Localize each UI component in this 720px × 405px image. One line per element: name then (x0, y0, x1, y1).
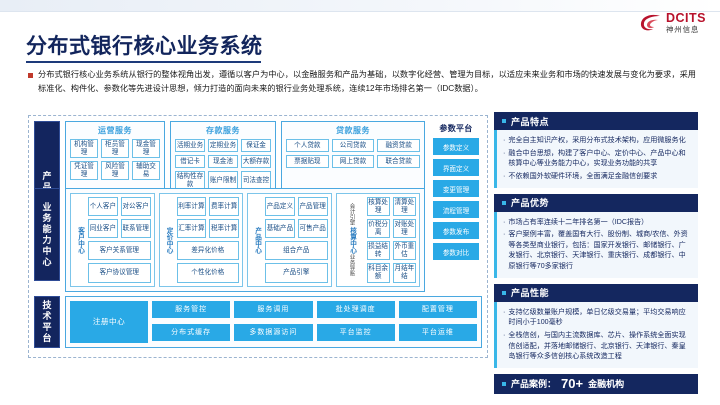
capability-cell[interactable]: 客户协议管理 (88, 263, 151, 282)
capability-cell[interactable]: 核算处理 (367, 197, 390, 216)
service-cell[interactable]: 公司贷款 (332, 139, 375, 152)
center-cells-pricing: 利率计算 费率计算 汇率计算 税率计算 差异化价格 个性化价格 (177, 197, 240, 283)
center-name-product: 产品中心 (251, 197, 262, 283)
center-accounting: 会计引擎 核算中心 业务导账 核算处理 清算处理 价税分离 对账处理 损益结转 … (336, 193, 421, 287)
capability-cell[interactable]: 税率计算 (209, 219, 239, 238)
list-dot-icon: · (503, 148, 505, 169)
panel-item-text: 融合中台思想，构建了客户中心、定价中心、产品中心和核算中心等业务能力中心，实现业… (508, 148, 691, 169)
service-cell[interactable]: 辅助交易 (132, 161, 160, 180)
case-suffix: 金融机构 (588, 377, 624, 390)
group-title-loan: 贷款服务 (286, 125, 420, 136)
capability-cell[interactable]: 产品定义 (265, 197, 295, 216)
panel-body-product-advantages: · 市场占有率连续十二年排名第一（IDC报告） · 客户案例丰富，覆盖国有大行、… (494, 212, 698, 278)
param-button[interactable]: 参数发布 (433, 222, 479, 239)
business-posting-label: 业务导账 (348, 254, 356, 276)
intro-bullet-icon (28, 73, 33, 78)
cell-grid-operation: 机构管理 柜员管理 现金管理 凭证管理 风险管理 辅助交易 (70, 139, 160, 180)
panel-title: 产品优势 (511, 196, 549, 209)
capability-cell[interactable]: 清算处理 (393, 197, 416, 216)
panel-product-advantages: 产品优势 · 市场占有率连续十二年排名第一（IDC报告） · 客户案例丰富，覆盖… (494, 194, 698, 278)
capability-cell[interactable]: 费率计算 (209, 197, 239, 216)
param-button[interactable]: 参数定义 (433, 138, 479, 155)
cell-grid-loan: 个人贷款 公司贷款 融资贷款 票据贴现 网上贷款 联合贷款 (286, 139, 420, 168)
param-button[interactable]: 流程管理 (433, 201, 479, 218)
param-button[interactable]: 变更管理 (433, 180, 479, 197)
service-cell[interactable]: 票据贴现 (286, 155, 329, 168)
panel-item-text: 完全自主知识产权，采用分布式技术架构，应用微服务化 (508, 135, 685, 146)
intro-text: 分布式银行核心业务系统从银行的整体视角出发，遵循以客户为中心，以金融服务和产品为… (38, 68, 696, 97)
service-cell[interactable]: 借记卡 (175, 155, 205, 168)
capability-cell[interactable]: 月结年结 (393, 263, 416, 282)
parameter-platform-column: 参数平台 参数定义 界面定义 变更管理 流程管理 参数发布 参数对比 (430, 121, 482, 264)
service-cell[interactable]: 柜员管理 (101, 139, 129, 158)
brand-logo: DCITS 神州信息 (640, 12, 706, 33)
center-name-pricing: 定价中心 (163, 197, 174, 283)
panel-bullet-icon (502, 119, 506, 123)
tech-cell[interactable]: 多数据源访问 (234, 324, 312, 341)
center-customer: 客户中心 个人客户 对公客户 同业客户 联系管理 客户关系管理 客户协议管理 (70, 193, 155, 287)
capability-cell[interactable]: 基础产品 (265, 219, 295, 238)
logo-en-text: DCITS (666, 12, 706, 25)
panel-head-product-advantages: 产品优势 (494, 194, 698, 212)
center-name-accounting: 会计引擎 核算中心 业务导账 (340, 197, 364, 283)
center-cells-product: 产品定义 产品管理 基础产品 可售产品 组合产品 产品引擎 (265, 197, 328, 283)
list-dot-icon: · (503, 307, 505, 328)
band-label-tech-platform: 技术平台 (34, 296, 60, 348)
service-cell[interactable]: 融资贷款 (377, 139, 420, 152)
panel-list-item: · 支持亿级数量账户规模，单日亿级交易量；平均交易响应时间小于100毫秒 (503, 307, 691, 328)
group-title-operation: 运营服务 (70, 125, 160, 136)
tech-cell[interactable]: 分布式缓存 (152, 324, 230, 341)
cell-grid-deposit: 活期业务 定期业务 保证金 借记卡 现金池 大额存款 结构性存款 账户限制 司法… (175, 139, 271, 190)
case-bullet-icon (502, 382, 506, 386)
capability-cell[interactable]: 对账处理 (393, 219, 416, 238)
capability-cell[interactable]: 差异化价格 (177, 241, 240, 260)
product-case-bar: 产品案例： 70+ 金融机构 (494, 374, 698, 394)
capability-cell[interactable]: 汇率计算 (177, 219, 207, 238)
panel-list-item: · 完全自主知识产权，采用分布式技术架构，应用微服务化 (503, 135, 691, 146)
dcits-swirl-icon (640, 13, 662, 33)
panel-list-item: · 融合中台思想，构建了客户中心、定价中心、产品中心和核算中心等业务能力中心，实… (503, 148, 691, 169)
service-cell[interactable]: 联合贷款 (377, 155, 420, 168)
panel-bullet-icon (502, 291, 506, 295)
right-info-column: 产品特点 · 完全自主知识产权，采用分布式技术架构，应用微服务化 · 融合中台思… (494, 112, 698, 394)
band-label-capability-center: 业务能力中心 (34, 188, 60, 281)
capability-cell[interactable]: 个人客户 (88, 197, 118, 216)
service-cell[interactable]: 定期业务 (208, 139, 238, 152)
service-cell[interactable]: 机构管理 (70, 139, 98, 158)
param-button[interactable]: 参数对比 (433, 243, 479, 260)
center-product: 产品中心 产品定义 产品管理 基础产品 可售产品 组合产品 产品引擎 (247, 193, 332, 287)
band-capability-center: 业务能力中心 客户中心 个人客户 对公客户 同业客户 联系管理 客户关系管理 客… (34, 188, 482, 292)
panel-item-text: 市场占有率连续十二年排名第一（IDC报告） (508, 217, 648, 228)
tech-cell[interactable]: 批处理调度 (317, 301, 395, 318)
service-cell[interactable]: 网上贷款 (332, 155, 375, 168)
capability-cell[interactable]: 客户关系管理 (88, 241, 151, 260)
panel-product-features: 产品特点 · 完全自主知识产权，采用分布式技术架构，应用微服务化 · 融合中台思… (494, 112, 698, 188)
center-cells-accounting: 核算处理 清算处理 价税分离 对账处理 损益结转 外币重估 科目余额 月结年结 (367, 197, 417, 283)
tech-cell-grid: 服务管控 服务调用 批处理调度 配置管理 分布式缓存 多数据源访问 平台监控 平… (152, 301, 477, 343)
service-cell[interactable]: 现金管理 (132, 139, 160, 158)
panel-head-product-performance: 产品性能 (494, 284, 698, 302)
center-cells-customer: 个人客户 对公客户 同业客户 联系管理 客户关系管理 客户协议管理 (88, 197, 151, 283)
tech-platform-wrap: 注册中心 服务管控 服务调用 批处理调度 配置管理 分布式缓存 多数据源访问 平… (65, 296, 482, 348)
service-cell[interactable]: 活期业务 (175, 139, 205, 152)
service-cell[interactable]: 现金池 (208, 155, 238, 168)
tech-cell[interactable]: 服务管控 (152, 301, 230, 318)
capability-cell[interactable]: 对公客户 (121, 197, 151, 216)
center-pricing: 定价中心 利率计算 费率计算 汇率计算 税率计算 差异化价格 个性化价格 (159, 193, 244, 287)
panel-product-performance: 产品性能 · 支持亿级数量账户规模，单日亿级交易量；平均交易响应时间小于100毫… (494, 284, 698, 368)
panel-title: 产品特点 (511, 115, 549, 128)
panel-item-text: 全栈信创，与国内主流数据库、芯片、操作系统全面实现信创适配，并落地邮储银行、北京… (508, 330, 691, 362)
title-underline (26, 61, 261, 63)
tech-cell[interactable]: 平台监控 (317, 324, 395, 341)
panel-list-item: · 全栈信创，与国内主流数据库、芯片、操作系统全面实现信创适配，并落地邮储银行、… (503, 330, 691, 362)
page-title: 分布式银行核心业务系统 (26, 30, 263, 60)
group-title-deposit: 存款服务 (175, 125, 271, 136)
service-cell[interactable]: 大额存款 (241, 155, 271, 168)
case-label: 产品案例： (511, 377, 556, 390)
list-dot-icon: · (503, 229, 505, 272)
capability-cell[interactable]: 联系管理 (121, 219, 151, 238)
logo-cn-text: 神州信息 (666, 26, 706, 34)
capability-cell[interactable]: 可售产品 (298, 219, 328, 238)
panel-list-item: · 不依赖国外软硬件环境，全面满足金融信创要求 (503, 171, 691, 182)
capability-cell[interactable]: 产品引擎 (265, 263, 328, 282)
accounting-engine-label: 会计引擎 (348, 203, 356, 225)
capability-cell[interactable]: 组合产品 (265, 241, 328, 260)
slide-root: DCITS 神州信息 分布式银行核心业务系统 分布式银行核心业务系统从银行的整体… (0, 0, 720, 405)
panel-list-item: · 市场占有率连续十二年排名第一（IDC报告） (503, 217, 691, 228)
tech-cell[interactable]: 服务调用 (234, 301, 312, 318)
list-dot-icon: · (503, 217, 505, 228)
architecture-diagram: 产品服务 运营服务 机构管理 柜员管理 现金管理 凭证管理 风险管理 辅助交易 … (28, 115, 488, 358)
case-number: 70+ (561, 376, 583, 391)
intro-paragraph: 分布式银行核心业务系统从银行的整体视角出发，遵循以客户为中心，以金融服务和产品为… (28, 68, 696, 97)
list-dot-icon: · (503, 135, 505, 146)
service-cell[interactable]: 风险管理 (101, 161, 129, 180)
parameter-platform-title: 参数平台 (439, 123, 472, 134)
capability-cell[interactable]: 个性化价格 (177, 263, 240, 282)
capability-centers-wrap: 客户中心 个人客户 对公客户 同业客户 联系管理 客户关系管理 客户协议管理 定… (65, 188, 425, 292)
list-dot-icon: · (503, 171, 505, 182)
tech-cell[interactable]: 平台运维 (399, 324, 477, 341)
band-tech-platform: 技术平台 注册中心 服务管控 服务调用 批处理调度 配置管理 分布式缓存 多数据… (34, 296, 482, 348)
capability-cell[interactable]: 利率计算 (177, 197, 207, 216)
list-dot-icon: · (503, 330, 505, 362)
param-button[interactable]: 界面定义 (433, 159, 479, 176)
register-center-block[interactable]: 注册中心 (70, 301, 148, 343)
panel-item-text: 不依赖国外软硬件环境，全面满足金融信创要求 (508, 171, 657, 182)
panel-body-product-features: · 完全自主知识产权，采用分布式技术架构，应用微服务化 · 融合中台思想，构建了… (494, 130, 698, 188)
panel-body-product-performance: · 支持亿级数量账户规模，单日亿级交易量；平均交易响应时间小于100毫秒 · 全… (494, 302, 698, 368)
capability-cell[interactable]: 外币重估 (393, 241, 416, 260)
capability-cell[interactable]: 同业客户 (88, 219, 118, 238)
service-cell[interactable]: 个人贷款 (286, 139, 329, 152)
service-cell[interactable]: 凭证管理 (70, 161, 98, 180)
capability-cell[interactable]: 产品管理 (298, 197, 328, 216)
panel-list-item: · 客户案例丰富，覆盖国有大行、股份制、城商/农信、外资等各类型商业银行，包括：… (503, 229, 691, 272)
tech-cell[interactable]: 配置管理 (399, 301, 477, 318)
capability-cell[interactable]: 科目余额 (367, 263, 390, 282)
top-accent-bar (0, 0, 720, 12)
panel-item-text: 客户案例丰富，覆盖国有大行、股份制、城商/农信、外资等各类型商业银行，包括：国家… (508, 229, 691, 272)
center-name-accounting-text: 核算中心 (347, 227, 357, 253)
panel-bullet-icon (502, 201, 506, 205)
panel-title: 产品性能 (511, 286, 549, 299)
service-cell[interactable]: 保证金 (241, 139, 271, 152)
capability-cell[interactable]: 价税分离 (367, 219, 390, 238)
panel-item-text: 支持亿级数量账户规模，单日亿级交易量；平均交易响应时间小于100毫秒 (508, 307, 691, 328)
capability-cell[interactable]: 损益结转 (367, 241, 390, 260)
panel-head-product-features: 产品特点 (494, 112, 698, 130)
center-name-customer: 客户中心 (74, 197, 85, 283)
